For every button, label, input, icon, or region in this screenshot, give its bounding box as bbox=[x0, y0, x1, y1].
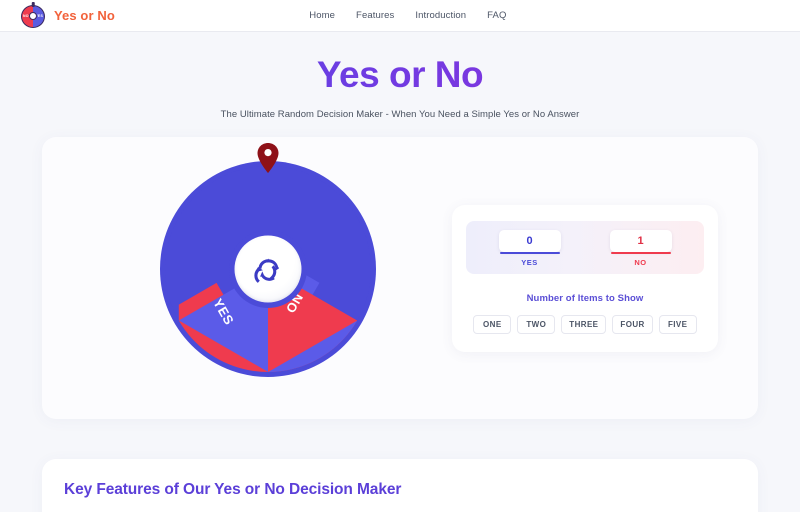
spin-wheel[interactable]: NOYESNOYESNOYES bbox=[160, 161, 376, 377]
features-card: Key Features of Our Yes or No Decision M… bbox=[42, 459, 758, 512]
main-nav: Home Features Introduction FAQ bbox=[309, 10, 506, 21]
score-cell-yes: 0 YES bbox=[474, 230, 585, 267]
nav-item-features[interactable]: Features bbox=[356, 10, 394, 21]
nav-item-introduction[interactable]: Introduction bbox=[415, 10, 466, 21]
no-count-label: NO bbox=[634, 258, 646, 267]
wheel-logo-icon: NO YES bbox=[20, 3, 46, 29]
wheel-spin-button[interactable] bbox=[235, 236, 302, 303]
items-button-three[interactable]: THREE bbox=[561, 315, 606, 334]
controls-area: 0 YES 1 NO Number of Items to Show ONE T… bbox=[412, 137, 758, 419]
items-button-four[interactable]: FOUR bbox=[612, 315, 652, 334]
page-title: Yes or No bbox=[0, 54, 800, 97]
items-count-title: Number of Items to Show bbox=[466, 293, 704, 304]
nav-item-home[interactable]: Home bbox=[309, 10, 335, 21]
logo-no-text: NO bbox=[23, 14, 29, 18]
wheel-pointer-icon bbox=[256, 142, 280, 174]
score-row: 0 YES 1 NO bbox=[466, 221, 704, 274]
spinner-card: NOYESNOYESNOYES bbox=[42, 137, 758, 419]
nav-item-faq[interactable]: FAQ bbox=[487, 10, 506, 21]
yes-count-label: YES bbox=[521, 258, 538, 267]
logo-hub bbox=[29, 12, 37, 20]
wheel-segment-label: YES bbox=[329, 356, 357, 371]
controls-panel: 0 YES 1 NO Number of Items to Show ONE T… bbox=[452, 205, 718, 352]
no-count-value: 1 bbox=[610, 230, 672, 252]
page-subtitle: The Ultimate Random Decision Maker - Whe… bbox=[0, 109, 800, 120]
items-count-buttons: ONE TWO THREE FOUR FIVE bbox=[466, 315, 704, 334]
hero-section: Yes or No The Ultimate Random Decision M… bbox=[0, 32, 800, 120]
site-header: NO YES Yes or No Home Features Introduct… bbox=[0, 0, 800, 32]
yes-count-value: 0 bbox=[499, 230, 561, 252]
score-cell-no: 1 NO bbox=[585, 230, 696, 267]
wheel-container[interactable]: NOYESNOYESNOYES bbox=[160, 161, 376, 377]
items-button-five[interactable]: FIVE bbox=[659, 315, 697, 334]
features-title: Key Features of Our Yes or No Decision M… bbox=[64, 481, 736, 499]
recycle-icon bbox=[253, 254, 283, 284]
wheel-area: NOYESNOYESNOYES bbox=[42, 137, 412, 419]
logo-pointer-icon bbox=[32, 2, 35, 7]
brand-logo-link[interactable]: NO YES Yes or No bbox=[20, 3, 115, 29]
brand-name: Yes or No bbox=[54, 8, 115, 23]
wheel-segment-label: YES bbox=[210, 296, 237, 328]
items-button-one[interactable]: ONE bbox=[473, 315, 511, 334]
items-button-two[interactable]: TWO bbox=[517, 315, 555, 334]
